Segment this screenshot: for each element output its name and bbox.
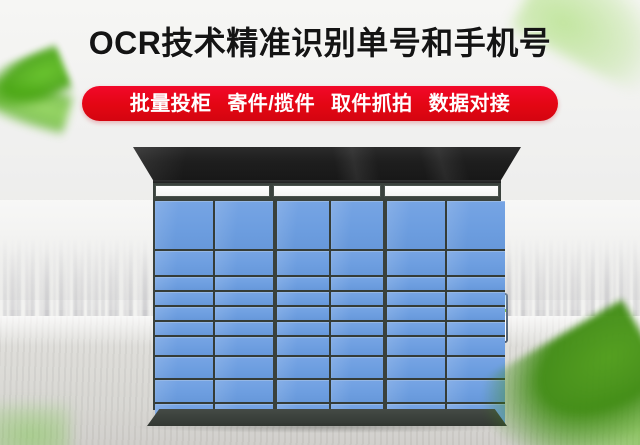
locker-door[interactable] [387,251,445,275]
locker-door[interactable] [277,380,329,402]
locker-door[interactable] [155,337,213,354]
locker-door[interactable] [155,277,213,290]
signage-panel-left [155,185,270,197]
locker-row [387,277,505,290]
feature-label-2: 取件抓拍 [331,94,413,114]
locker-door[interactable] [155,292,213,305]
locker-door[interactable] [215,357,273,379]
locker-row [277,251,382,275]
locker-door[interactable] [331,201,383,249]
locker-door[interactable] [447,251,505,275]
locker-door[interactable] [387,380,445,402]
locker-door[interactable] [387,337,445,354]
locker-door[interactable] [155,357,213,379]
locker-door[interactable] [447,337,505,354]
locker-door[interactable] [331,292,383,305]
locker-door[interactable] [155,322,213,335]
feature-pill: 批量投柜寄件/揽件取件抓拍数据对接 [82,86,558,121]
locker-ground-shadow [135,423,519,433]
locker-row [277,277,382,290]
locker-door[interactable] [277,322,329,335]
locker-row [277,380,382,402]
locker-row [155,357,273,379]
signage-panel-middle [273,185,381,197]
locker-row [155,251,273,275]
locker-row [277,357,382,379]
locker-door[interactable] [447,292,505,305]
locker-row [155,292,273,305]
smart-parcel-locker [133,147,521,430]
locker-door[interactable] [387,307,445,320]
locker-door[interactable] [331,307,383,320]
locker-row [387,322,505,335]
locker-door[interactable] [447,322,505,335]
locker-door[interactable] [331,337,383,354]
locker-door[interactable] [447,277,505,290]
locker-row [277,201,382,249]
locker-row [277,307,382,320]
locker-door[interactable] [155,380,213,402]
signage-strip [153,183,501,199]
locker-door[interactable] [215,307,273,320]
locker-door[interactable] [215,277,273,290]
locker-door[interactable] [155,307,213,320]
locker-door[interactable] [277,292,329,305]
locker-door[interactable] [215,201,273,249]
locker-door[interactable] [331,251,383,275]
locker-door[interactable] [277,201,329,249]
locker-door[interactable] [447,380,505,402]
right-cabinet [387,201,505,408]
signage-panel-right [384,185,499,197]
locker-row [387,307,505,320]
locker-row [155,307,273,320]
locker-row [155,380,273,402]
locker-door[interactable] [387,292,445,305]
locker-door[interactable] [277,337,329,354]
locker-door[interactable] [215,322,273,335]
locker-door[interactable] [331,380,383,402]
locker-door[interactable] [387,201,445,249]
locker-door[interactable] [277,277,329,290]
locker-door[interactable] [277,357,329,379]
locker-door[interactable] [215,251,273,275]
locker-door[interactable] [215,380,273,402]
locker-canopy [133,147,521,183]
locker-door[interactable] [331,322,383,335]
locker-row [387,380,505,402]
locker-door[interactable] [277,251,329,275]
feature-label-3: 数据对接 [429,94,511,114]
feature-label-0: 批量投柜 [130,94,212,114]
locker-door[interactable] [215,337,273,354]
feature-label-1: 寄件/揽件 [227,94,315,114]
locker-row [387,357,505,379]
locker-door[interactable] [447,357,505,379]
locker-door[interactable] [155,201,213,249]
locker-door[interactable] [387,322,445,335]
locker-row [277,337,382,354]
middle-cabinet [277,201,382,408]
locker-door[interactable] [277,307,329,320]
canopy-sheen [133,147,521,183]
locker-row [155,337,273,354]
locker-door[interactable] [447,307,505,320]
locker-row [387,251,505,275]
locker-row [155,322,273,335]
promo-banner-stage: OCR技术精准识别单号和手机号 批量投柜寄件/揽件取件抓拍数据对接 [0,0,640,445]
locker-row [387,292,505,305]
page-title: OCR技术精准识别单号和手机号 [0,26,640,60]
locker-door[interactable] [387,357,445,379]
locker-door[interactable] [331,277,383,290]
locker-row [155,201,273,249]
locker-door[interactable] [331,357,383,379]
locker-row [277,322,382,335]
locker-row [387,337,505,354]
locker-door[interactable] [155,251,213,275]
locker-row [277,292,382,305]
locker-door[interactable] [387,277,445,290]
locker-door[interactable] [215,292,273,305]
left-cabinet [155,201,273,408]
locker-door[interactable] [447,201,505,249]
locker-row [387,201,505,249]
locker-body-frame [153,199,501,410]
locker-row [155,277,273,290]
